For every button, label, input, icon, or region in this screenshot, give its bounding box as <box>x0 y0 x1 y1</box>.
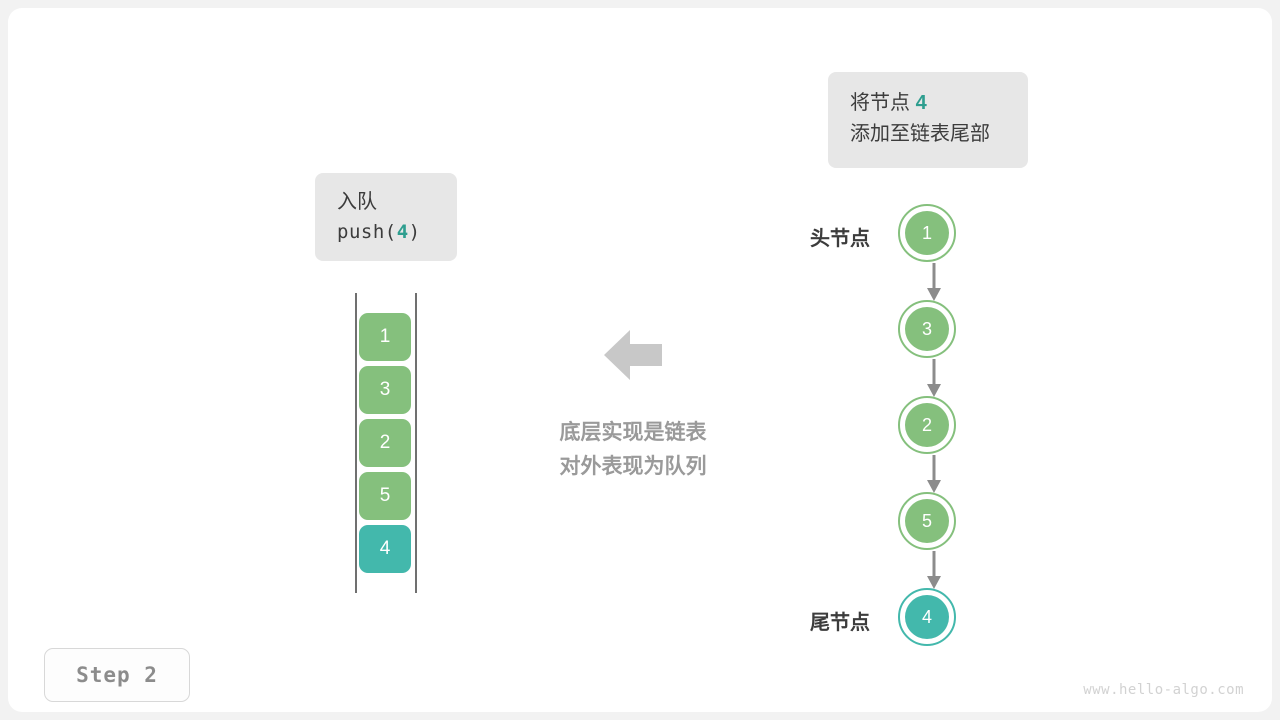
queue-cell-value: 1 <box>380 326 391 348</box>
node-callout-line1: 将节点 4 <box>850 88 1028 119</box>
list-node-value: 2 <box>905 403 949 447</box>
left-arrow-icon <box>604 328 662 382</box>
queue-cell-value: 3 <box>380 379 391 401</box>
push-prefix: push( <box>337 221 397 243</box>
operation-callout-line1: 入队 <box>337 187 457 218</box>
head-node-label: 头节点 <box>750 222 870 251</box>
list-node: 2 <box>898 396 956 454</box>
queue-cell-value: 5 <box>380 485 391 507</box>
list-arrow-icon <box>925 551 943 591</box>
queue-cell: 3 <box>359 366 411 414</box>
node-callout: 将节点 4 添加至链表尾部 <box>828 72 1028 168</box>
node-callout-value: 4 <box>916 92 927 114</box>
list-node-value: 5 <box>905 499 949 543</box>
queue-cell-value: 4 <box>380 538 391 560</box>
middle-annotation-text: 底层实现是链表 对外表现为队列 <box>503 416 763 483</box>
list-node-value: 4 <box>905 595 949 639</box>
list-node-value: 1 <box>905 211 949 255</box>
list-arrow-icon <box>925 359 943 399</box>
queue-cell: 1 <box>359 313 411 361</box>
list-arrow-icon <box>925 263 943 303</box>
node-callout-line2: 添加至链表尾部 <box>850 119 1028 150</box>
push-value: 4 <box>397 221 409 243</box>
queue-cell-value: 2 <box>380 432 391 454</box>
queue-cell: 2 <box>359 419 411 467</box>
middle-annotation-line2: 对外表现为队列 <box>503 450 763 484</box>
diagram-canvas: 入队 push(4) 将节点 4 添加至链表尾部 1 3 2 5 4 底层实现是… <box>8 8 1272 712</box>
list-node: 1 <box>898 204 956 262</box>
push-suffix: ) <box>409 221 421 243</box>
queue-rail-right <box>415 293 417 593</box>
queue-cell-highlighted: 4 <box>359 525 411 573</box>
list-arrow-icon <box>925 455 943 495</box>
operation-callout: 入队 push(4) <box>315 173 457 261</box>
list-node-value: 3 <box>905 307 949 351</box>
queue-rail-left <box>355 293 357 593</box>
queue-cell: 5 <box>359 472 411 520</box>
operation-callout-line2: push(4) <box>337 218 457 247</box>
tail-node-label: 尾节点 <box>750 606 870 635</box>
list-node-highlighted: 4 <box>898 588 956 646</box>
list-node: 5 <box>898 492 956 550</box>
node-callout-prefix: 将节点 <box>850 92 916 114</box>
watermark: www.hello-algo.com <box>1083 682 1244 698</box>
list-node: 3 <box>898 300 956 358</box>
middle-annotation-line1: 底层实现是链表 <box>503 416 763 450</box>
step-badge: Step 2 <box>44 648 190 702</box>
